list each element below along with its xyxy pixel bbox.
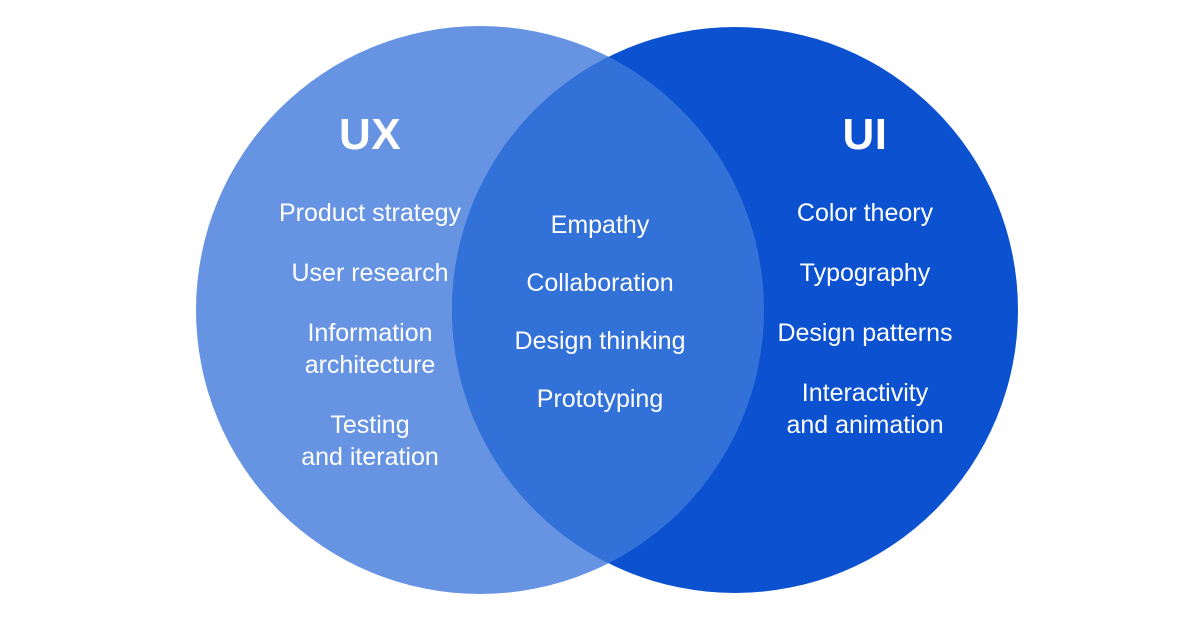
overlap-item-2: Collaboration	[485, 267, 715, 299]
right-circle-item-1: Color theory	[700, 197, 1030, 229]
venn-diagram: UX Product strategy User research Inform…	[0, 0, 1200, 628]
overlap-item-1: Empathy	[485, 209, 715, 241]
left-circle-item-4: Testing and iteration	[205, 409, 535, 473]
overlap-item-3: Design thinking	[485, 325, 715, 357]
right-circle-item-2: Typography	[700, 257, 1030, 289]
venn-text-layer: UX Product strategy User research Inform…	[0, 0, 1200, 628]
right-circle-item-4: Interactivity and animation	[700, 377, 1030, 441]
left-circle-title: UX	[205, 113, 535, 157]
overlap-content: Empathy Collaboration Design thinking Pr…	[485, 209, 715, 415]
right-circle-title: UI	[700, 113, 1030, 157]
right-circle-item-3: Design patterns	[700, 317, 1030, 349]
right-circle-content: UI Color theory Typography Design patter…	[700, 113, 1030, 441]
overlap-item-4: Prototyping	[485, 383, 715, 415]
